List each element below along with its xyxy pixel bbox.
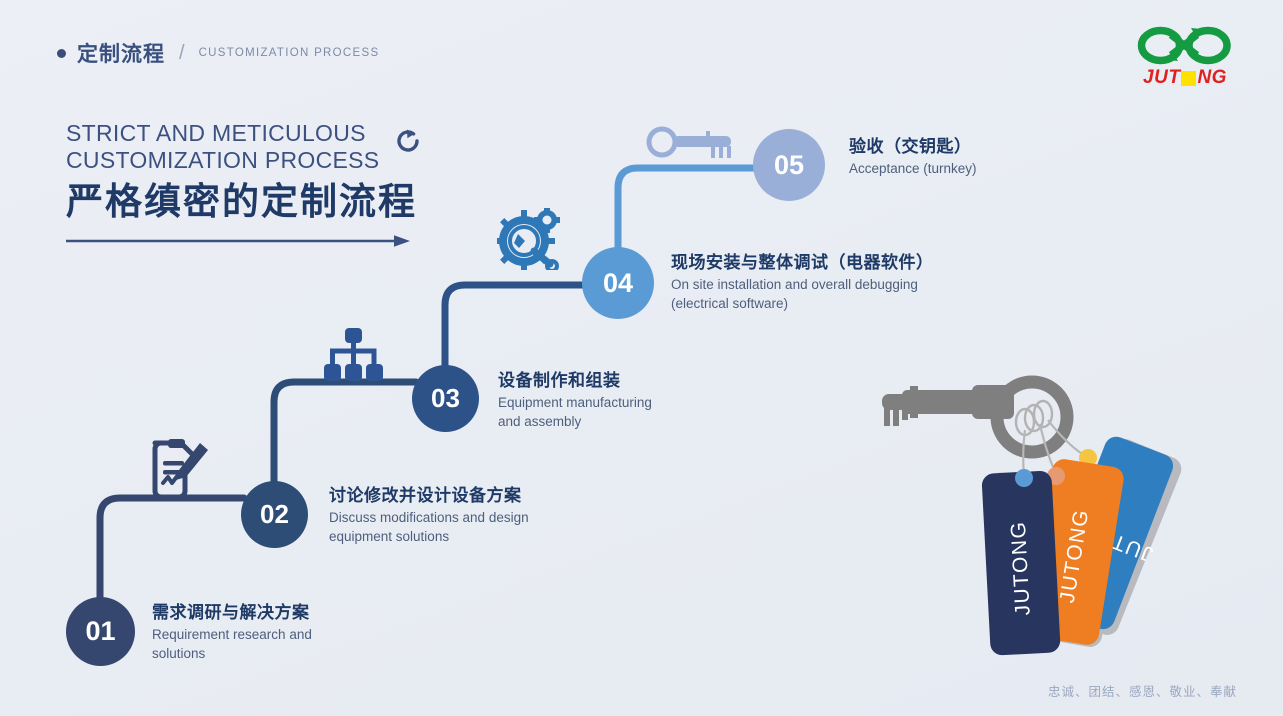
logo-yellow-square-icon [1181, 71, 1196, 86]
step-label-02-en-line2: equipment solutions [329, 528, 529, 545]
infinity-loop-icon [1132, 22, 1238, 66]
arrow-underline-icon [66, 233, 411, 249]
step-node-02[interactable]: 02 [241, 481, 308, 548]
step-label-04-cn: 现场安装与整体调试（电器软件） [671, 251, 934, 274]
document-pen-icon [148, 435, 210, 504]
step-label-03-cn: 设备制作和组装 [498, 369, 652, 392]
refresh-arrow-icon [393, 126, 423, 156]
bullet-dot-icon [57, 49, 66, 58]
logo-text-after: NG [1197, 67, 1227, 89]
step-node-03[interactable]: 03 [412, 365, 479, 432]
key-illustration-icon [882, 382, 1067, 452]
org-chart-icon [322, 328, 384, 389]
step-label-04-en-line1: On site installation and overall debuggi… [671, 276, 934, 293]
step-label-05-cn: 验收（交钥匙） [849, 135, 977, 158]
page-header: 定制流程 / CUSTOMIZATION PROCESS [57, 38, 379, 68]
header-title-cn: 定制流程 [77, 38, 165, 68]
step-label-01-en-line1: Requirement research and [152, 626, 312, 643]
step-label-03-en-line2: and assembly [498, 413, 652, 430]
tag-navy: JUTONG [981, 470, 1060, 655]
step-label-03: 设备制作和组装 Equipment manufacturing and asse… [498, 369, 652, 430]
step-node-01[interactable]: 01 [66, 597, 135, 666]
logo-text-before: JUT [1143, 67, 1180, 89]
step-label-01-cn: 需求调研与解决方案 [152, 601, 312, 624]
step-label-01: 需求调研与解决方案 Requirement research and solut… [152, 601, 312, 662]
step-label-02: 讨论修改并设计设备方案 Discuss modifications and de… [329, 484, 529, 545]
gear-wrench-icon [497, 208, 563, 275]
step-label-02-en-line1: Discuss modifications and design [329, 509, 529, 526]
title-en-line2: CUSTOMIZATION PROCESS [66, 147, 379, 174]
step-label-04: 现场安装与整体调试（电器软件） On site installation and… [671, 251, 934, 312]
step-node-05[interactable]: 05 [753, 129, 825, 201]
keychain-illustration: JUTONG JUTONG JUTONG [862, 372, 1232, 667]
header-separator: / [179, 42, 185, 65]
header-title-en: CUSTOMIZATION PROCESS [199, 47, 380, 59]
key-icon [646, 125, 744, 170]
footer-motto: 忠诚、团结、感恩、敬业、奉献 [1048, 681, 1237, 700]
step-label-02-cn: 讨论修改并设计设备方案 [329, 484, 529, 507]
hero-title: STRICT AND METICULOUS CUSTOMIZATION PROC… [66, 120, 423, 254]
title-en-line1: STRICT AND METICULOUS [66, 120, 379, 147]
step-node-04[interactable]: 04 [582, 247, 654, 319]
step-label-03-en-line1: Equipment manufacturing [498, 394, 652, 411]
step-label-05: 验收（交钥匙） Acceptance (turnkey) [849, 135, 977, 177]
step-label-01-en-line2: solutions [152, 645, 312, 662]
logo-wordmark: JUT NG [1143, 67, 1227, 89]
step-label-04-en-line2: (electrical software) [671, 295, 934, 312]
step-label-05-en-line1: Acceptance (turnkey) [849, 160, 977, 177]
title-cn: 严格缜密的定制流程 [66, 180, 423, 224]
company-logo: JUT NG [1132, 22, 1238, 89]
